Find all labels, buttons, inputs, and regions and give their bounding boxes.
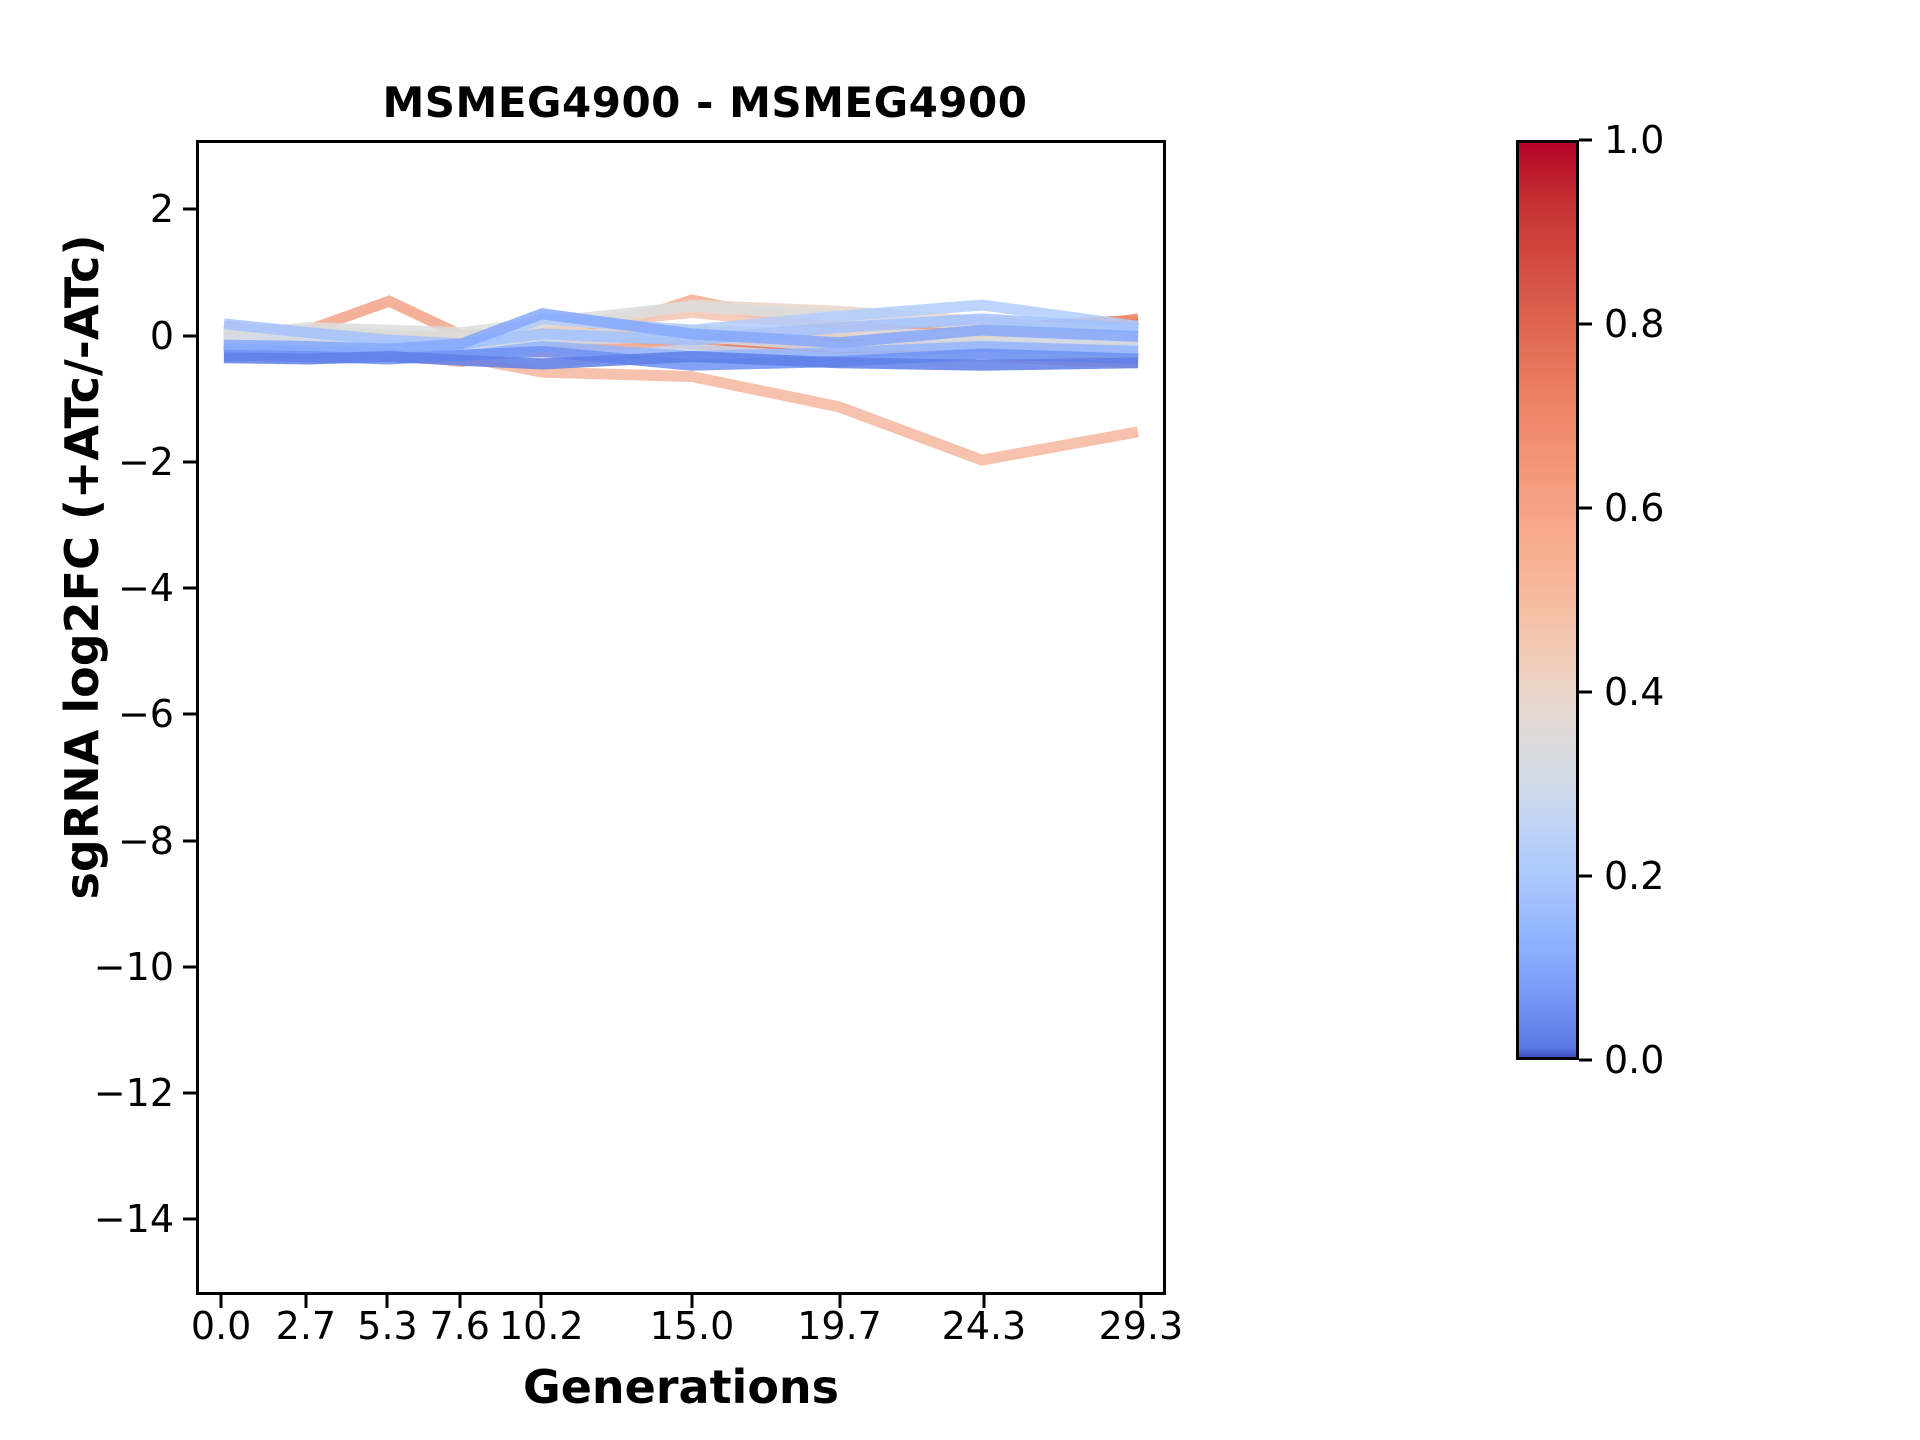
x-tick-label: 7.6 [429,1304,489,1348]
colorbar-tick-mark [1579,323,1592,326]
y-tick-mark [183,965,196,968]
colorbar-tick-label: 0.0 [1604,1038,1664,1082]
chart-canvas: MSMEG4900 - MSMEG4900 20−2−4−6−8−10−12−1… [0,0,1920,1440]
x-tick-label: 29.3 [1099,1304,1184,1348]
x-tick-label: 0.0 [191,1304,251,1348]
x-tick-label: 2.7 [276,1304,336,1348]
colorbar-tick-mark [1579,139,1592,142]
colorbar-gradient [1516,140,1579,1060]
y-axis-label: sgRNA log2FC (+ATc/-ATc) [55,67,109,1067]
y-tick-mark [183,1218,196,1221]
y-tick-label: −12 [0,1071,174,1115]
x-tick-label: 5.3 [357,1304,417,1348]
series-lines [199,143,1163,1292]
colorbar-tick-label: 0.6 [1604,486,1664,530]
x-tick-label: 15.0 [650,1304,735,1348]
x-tick-label: 10.2 [499,1304,584,1348]
colorbar-tick-mark [1579,507,1592,510]
colorbar-tick-mark [1579,1059,1592,1062]
colorbar: 1.00.80.60.40.20.0 [1516,140,1916,1060]
y-tick-mark [183,587,196,590]
y-tick-mark [183,208,196,211]
colorbar-tick-mark [1579,691,1592,694]
plot-area [196,140,1166,1295]
chart-title: MSMEG4900 - MSMEG4900 [205,78,1205,127]
colorbar-tick-label: 0.2 [1604,854,1664,898]
y-tick-mark [183,334,196,337]
y-tick-mark [183,1092,196,1095]
x-axis-label: Generations [196,1360,1166,1414]
x-tick-label: 19.7 [797,1304,882,1348]
y-tick-label: −14 [0,1197,174,1241]
colorbar-tick-label: 0.8 [1604,302,1664,346]
y-tick-mark [183,460,196,463]
colorbar-tick-label: 1.0 [1604,118,1664,162]
x-tick-label: 24.3 [942,1304,1027,1348]
colorbar-tick-label: 0.4 [1604,670,1664,714]
colorbar-tick-mark [1579,875,1592,878]
y-tick-mark [183,713,196,716]
y-tick-mark [183,839,196,842]
